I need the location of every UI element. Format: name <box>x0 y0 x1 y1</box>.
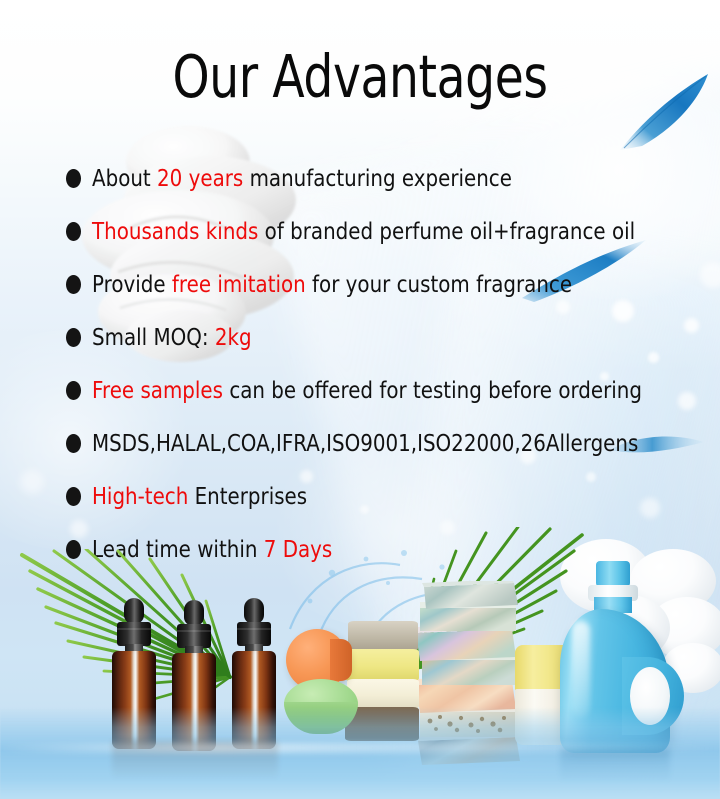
bullet-dot-icon <box>66 328 81 347</box>
list-item: High-tech Enterprises <box>66 470 720 523</box>
list-item-label: Thousands kinds of branded perfume oil+f… <box>92 220 635 244</box>
dropper-bulb <box>124 598 144 624</box>
soap-disc-orange-side <box>330 639 352 681</box>
list-item: Small MOQ: 2kg <box>66 311 720 364</box>
bullet-dot-icon <box>66 434 81 453</box>
list-item: MSDS,HALAL,COA,IFRA,ISO9001,ISO22000,26A… <box>66 417 720 470</box>
page-title: Our Advantages <box>72 47 648 106</box>
dropper-cap <box>117 622 151 646</box>
dropper-cap <box>237 622 271 646</box>
list-item-label: Free samples can be offered for testing … <box>92 379 642 403</box>
list-item-label: High-tech Enterprises <box>92 485 307 509</box>
bullet-dot-icon <box>66 169 81 188</box>
list-item-label: MSDS,HALAL,COA,IFRA,ISO9001,ISO22000,26A… <box>92 432 638 456</box>
list-item: Provide free imitation for your custom f… <box>66 258 720 311</box>
list-item-label: About 20 years manufacturing experience <box>92 167 512 191</box>
bottle-highlight <box>572 621 590 717</box>
bullet-dot-icon <box>66 275 81 294</box>
soap-cylinder-taupe <box>348 621 418 651</box>
list-item-label: Provide free imitation for your custom f… <box>92 273 572 297</box>
bullet-dot-icon <box>66 487 81 506</box>
bokeh-dot <box>20 470 44 494</box>
list-item-label: Small MOQ: 2kg <box>92 326 252 350</box>
soap-cylinder-yellow <box>345 649 419 681</box>
list-item: Free samples can be offered for testing … <box>66 364 720 417</box>
list-item: Thousands kinds of branded perfume oil+f… <box>66 205 720 258</box>
bottle-cap <box>596 561 630 587</box>
detergent-reflection <box>560 749 670 783</box>
dropper-bulb <box>244 598 264 624</box>
dropper-cap <box>177 624 211 648</box>
product-scene <box>0 539 720 799</box>
dropper-bulb <box>184 600 204 626</box>
advantages-poster: Our Advantages About 20 years manufactur… <box>0 0 720 799</box>
soap-bar <box>422 581 518 609</box>
bottle-reflection <box>112 741 278 781</box>
bullet-dot-icon <box>66 222 81 241</box>
advantages-list: About 20 years manufacturing experience … <box>66 152 720 576</box>
bullet-dot-icon <box>66 381 81 400</box>
list-item: About 20 years manufacturing experience <box>66 152 720 205</box>
